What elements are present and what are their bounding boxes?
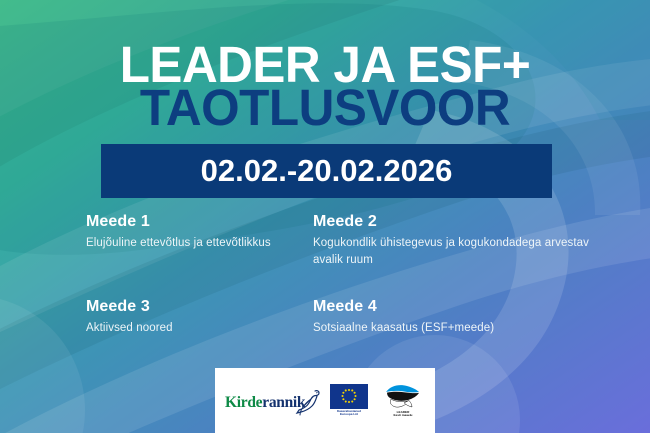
measure-description: Sotsiaalne kaasatus (ESF+meede)	[313, 320, 613, 337]
measure-item: Meede 1 Elujõuline ettevõtlus ja ettevõt…	[86, 213, 301, 252]
estonia-caption-line2: Eesti maaelu	[394, 414, 413, 418]
measure-title: Meede 2	[313, 213, 613, 231]
title-line-secondary: TAOTLUSVOOR	[10, 85, 641, 131]
logo-band: Kirderannik	[215, 368, 435, 433]
estonia-caption: LEADER Eesti maaelu	[394, 411, 413, 419]
eu-caption-line2: Euroopa Liit	[337, 413, 361, 417]
estonia-leader-logo: LEADER Eesti maaelu	[381, 383, 425, 419]
date-range-banner: 02.02.-20.02.2026	[101, 144, 552, 198]
poster-title: LEADER JA ESF+ TAOTLUSVOOR	[0, 42, 650, 131]
measure-description: Aktiivsed noored	[86, 320, 301, 337]
measure-title: Meede 3	[86, 298, 301, 316]
measure-item: Meede 2 Kogukondlik ühistegevus ja koguk…	[313, 213, 613, 268]
kirderannik-logo: Kirderannik	[225, 384, 317, 418]
measure-item: Meede 3 Aktiivsed noored	[86, 298, 301, 337]
measure-item: Meede 4 Sotsiaalne kaasatus (ESF+meede)	[313, 298, 613, 337]
eu-flag-icon	[330, 384, 368, 409]
heron-bird-icon	[295, 388, 321, 416]
measure-title: Meede 1	[86, 213, 301, 231]
measures-grid: Meede 1 Elujõuline ettevõtlus ja ettevõt…	[0, 213, 650, 343]
date-range-text: 02.02.-20.02.2026	[201, 153, 453, 189]
eu-caption: Kaasrahastanud Euroopa Liit	[337, 410, 361, 418]
eu-logo: Kaasrahastanud Euroopa Liit	[328, 384, 370, 418]
measure-title: Meede 4	[313, 298, 613, 316]
measure-description: Kogukondlik ühistegevus ja kogukondadega…	[313, 235, 613, 268]
estonian-swallow-icon	[383, 383, 423, 411]
kirderannik-name-part1: Kirde	[225, 394, 262, 411]
poster-canvas: LEADER JA ESF+ TAOTLUSVOOR 02.02.-20.02.…	[0, 0, 650, 433]
measure-description: Elujõuline ettevõtlus ja ettevõtlikkus	[86, 235, 301, 252]
